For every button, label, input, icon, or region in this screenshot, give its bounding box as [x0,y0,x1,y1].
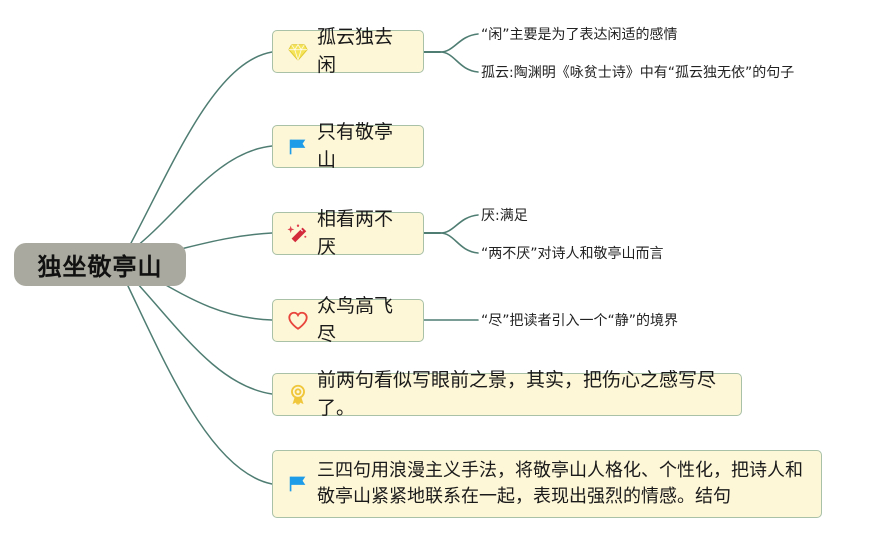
flag-icon [287,136,309,158]
gem-icon [287,41,309,63]
connector-root-to-branch-5 [136,282,272,394]
branch-node-3[interactable]: 相看两不厌 [272,212,424,255]
branch-node-5-label: 前两句看似写眼前之景，其实，把伤心之感写尽了。 [317,367,727,422]
leaf-text-3-1: 厌:满足 [481,209,528,223]
leaf-text-3-2: “两不厌”对诗人和敬亭山而言 [481,247,664,261]
connector-root-to-branch-2 [132,146,272,250]
medal-icon [287,384,309,406]
branch-node-1[interactable]: 孤云独去闲 [272,30,424,73]
branch-node-6[interactable]: 三四句用浪漫主义手法，将敬亭山人格化、个性化，把诗人和 敬亭山紧紧地联系在一起，… [272,450,822,518]
branch-node-3-label: 相看两不厌 [317,206,409,261]
branch-node-6-label: 三四句用浪漫主义手法，将敬亭山人格化、个性化，把诗人和 敬亭山紧紧地联系在一起，… [317,458,803,510]
heart-icon [287,310,309,332]
branch-node-4[interactable]: 众鸟高飞尽 [272,299,424,342]
connector-branch-1-leaf-2 [440,52,478,72]
connector-branch-3-leaf-1 [440,215,478,233]
connector-root-to-branch-6 [128,286,272,484]
branch-node-2[interactable]: 只有敬亭山 [272,125,424,168]
leaf-text-1-1: “闲”主要是为了表达闲适的感情 [481,28,678,42]
branch-node-4-label: 众鸟高飞尽 [317,293,409,348]
flag-icon [287,473,309,495]
connector-branch-3-leaf-2 [440,233,478,253]
branch-node-5[interactable]: 前两句看似写眼前之景，其实，把伤心之感写尽了。 [272,373,742,416]
branch-node-2-label: 只有敬亭山 [317,119,409,174]
leaf-text-1-2: 孤云:陶渊明《咏贫士诗》中有“孤云独无依”的句子 [481,66,794,80]
connector-branch-1-leaf-1 [440,34,478,52]
branch-node-1-label: 孤云独去闲 [317,24,409,79]
root-node-label: 独坐敬亭山 [38,247,163,282]
magic-wand-icon [287,223,309,245]
leaf-text-4-1: “尽”把读者引入一个“静”的境界 [481,314,678,328]
root-node[interactable]: 独坐敬亭山 [14,243,186,286]
connector-root-to-branch-1 [130,52,272,245]
mindmap-canvas: 独坐敬亭山 孤云独去闲 只有敬亭山 [0,0,877,540]
